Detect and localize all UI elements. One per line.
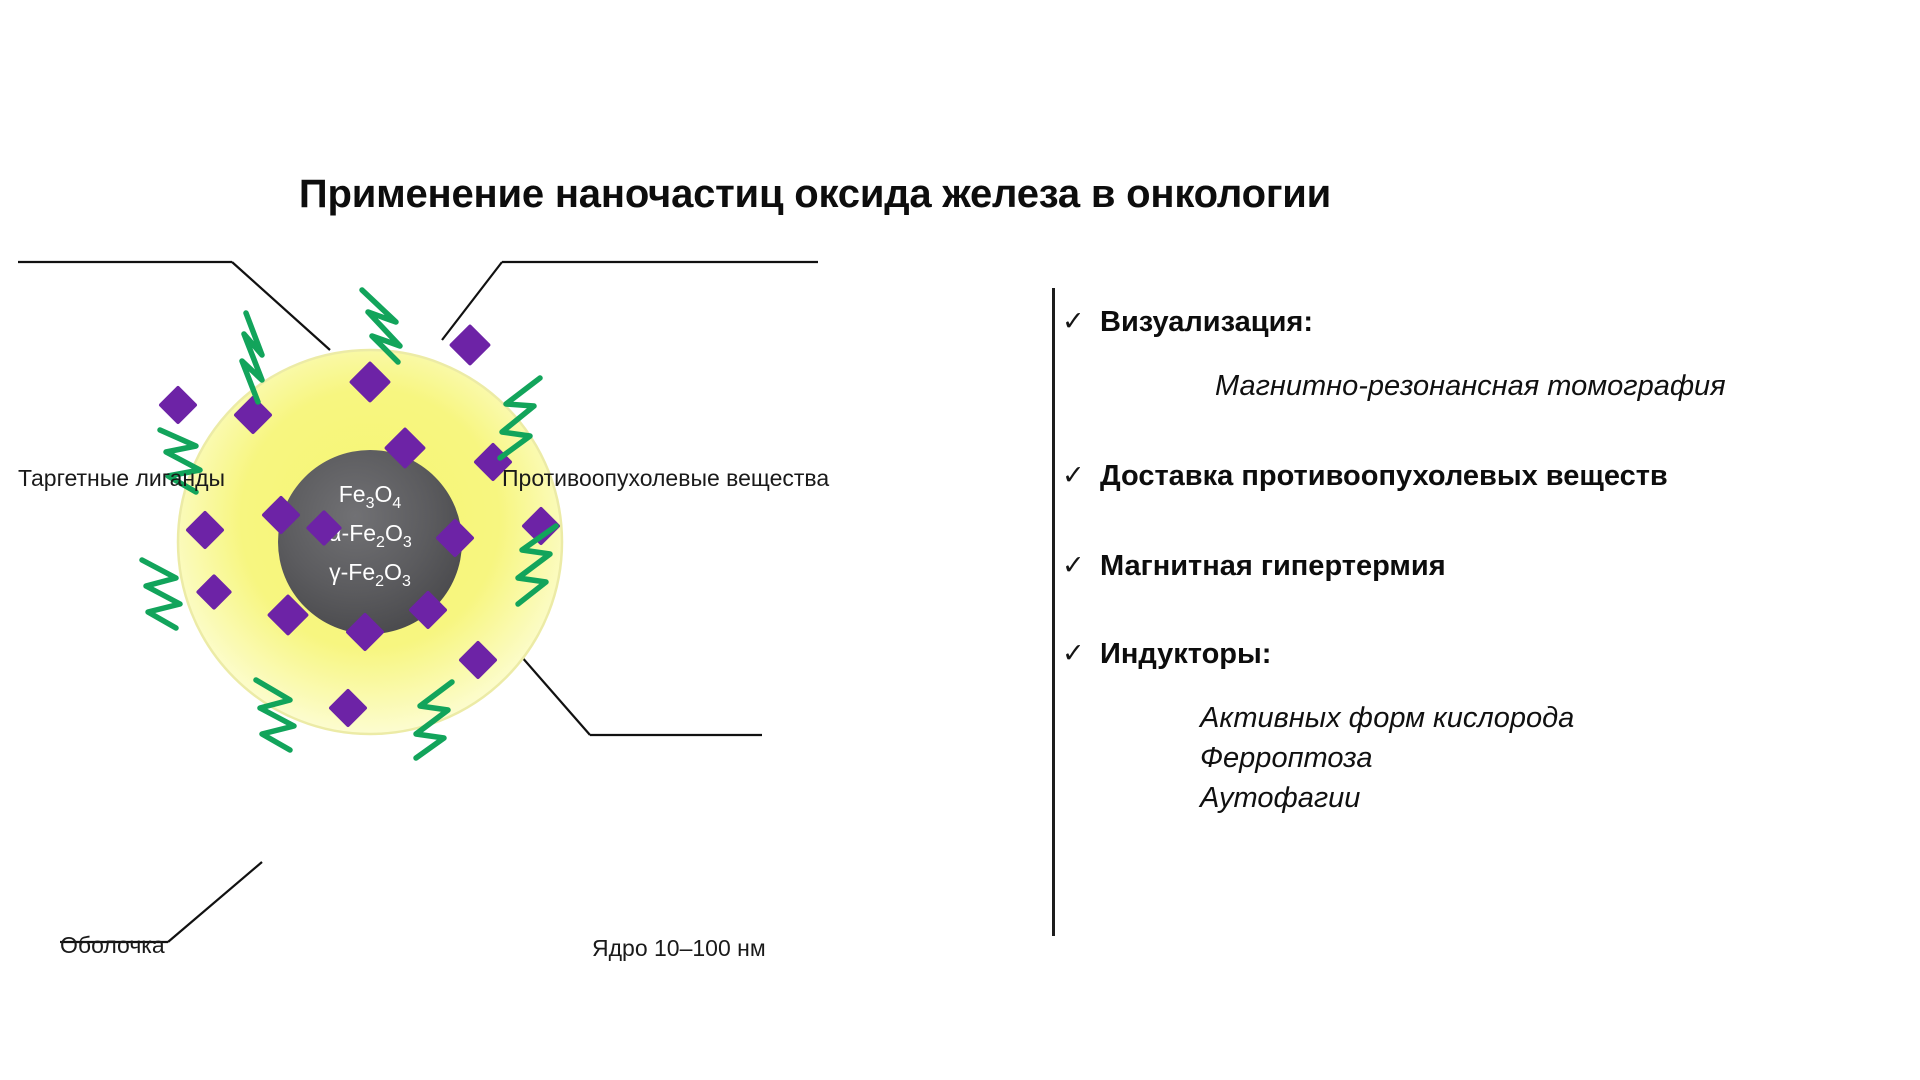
check-icon: ✓ (1062, 460, 1100, 489)
nanoparticle-svg: Fe3O4 α-Fe2O3 γ-Fe2O3 (0, 230, 1050, 950)
sub-item-ferroptosis: Ферроптоза (1200, 738, 1574, 778)
drug-diamond (449, 324, 491, 366)
sub-item-ros: Активных форм кислорода (1200, 698, 1574, 738)
drug-diamond (158, 385, 198, 425)
core-formula-group: Fe3O4 α-Fe2O3 γ-Fe2O3 (328, 481, 412, 590)
sub-item-autophagy: Аутофагии (1200, 778, 1574, 818)
sub-item-inductors-group: Активных форм кислорода Ферроптоза Аутоф… (1200, 698, 1574, 818)
leader-shell-diagonal (168, 862, 262, 942)
list-item-label: Магнитная гипертермия (1100, 550, 1446, 583)
list-item-label: Индукторы: (1100, 638, 1271, 671)
check-icon: ✓ (1062, 638, 1100, 667)
callout-antitumour-substances: Противоопухолевые вещества (502, 465, 829, 492)
nanoparticle-diagram: Fe3O4 α-Fe2O3 γ-Fe2O3 (0, 230, 1050, 950)
callout-core-size: Ядро 10–100 нм (592, 935, 766, 962)
check-icon: ✓ (1062, 550, 1100, 579)
page-title: Применение наночастиц оксида железа в он… (0, 172, 1630, 217)
list-item-magnetic-hyperthermia: ✓ Магнитная гипертермия (1062, 550, 1446, 583)
list-item-drug-delivery: ✓ Доставка противоопухолевых веществ (1062, 460, 1668, 493)
list-item-label: Доставка противоопухолевых веществ (1100, 460, 1668, 493)
list-item-label: Визуализация: (1100, 306, 1313, 339)
ligand-strand (142, 560, 180, 628)
callout-targeting-ligands: Таргетные лиганды (18, 465, 225, 492)
list-item-visualization: ✓ Визуализация: (1062, 306, 1313, 339)
list-item-inductors: ✓ Индукторы: (1062, 638, 1271, 671)
check-icon: ✓ (1062, 306, 1100, 335)
sub-item-mri: Магнитно-резонансная томография (1215, 366, 1726, 406)
callout-shell: Оболочка (60, 932, 165, 959)
applications-list: ✓ Визуализация: Магнитно-резонансная том… (1052, 288, 1912, 938)
